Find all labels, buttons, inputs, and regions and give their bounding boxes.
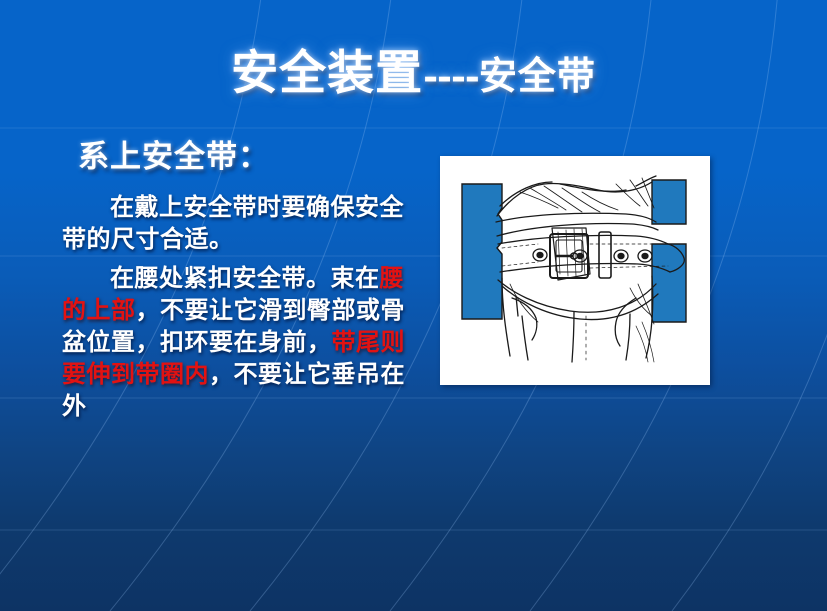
body-paragraph-2: 在腰处紧扣安全带。束在腰的上部，不要让它滑到臀部或骨盆位置，扣环要在身前，带尾则… bbox=[62, 263, 422, 423]
body-paragraph-1: 在戴上安全带时要确保安全带的尺寸合适。 bbox=[62, 192, 422, 256]
slide-title-tail: 安全带 bbox=[479, 53, 596, 98]
slide-title-main: 安全装置 bbox=[231, 46, 423, 101]
text-run: 在腰处紧扣安全带。束在 bbox=[110, 264, 380, 292]
text-run: 在戴上安全带时要确保安全带的尺寸合适。 bbox=[62, 193, 404, 253]
slide-title: 安全装置----安全带 bbox=[0, 34, 827, 103]
presentation-slide: 安全装置----安全带 系上安全带： 在戴上安全带时要确保安全带的尺寸合适。 在… bbox=[0, 0, 827, 611]
accent-block-left bbox=[462, 184, 502, 319]
belt-line-drawing bbox=[440, 156, 710, 385]
slide-title-dashes: ---- bbox=[423, 56, 479, 98]
accent-block-right-bottom bbox=[652, 244, 686, 322]
accent-block-right-top bbox=[652, 180, 686, 224]
slide-subheading: 系上安全带： bbox=[78, 140, 422, 176]
belt-illustration bbox=[440, 156, 710, 385]
slide-text-body: 系上安全带： 在戴上安全带时要确保安全带的尺寸合适。 在腰处紧扣安全带。束在腰的… bbox=[62, 140, 422, 431]
